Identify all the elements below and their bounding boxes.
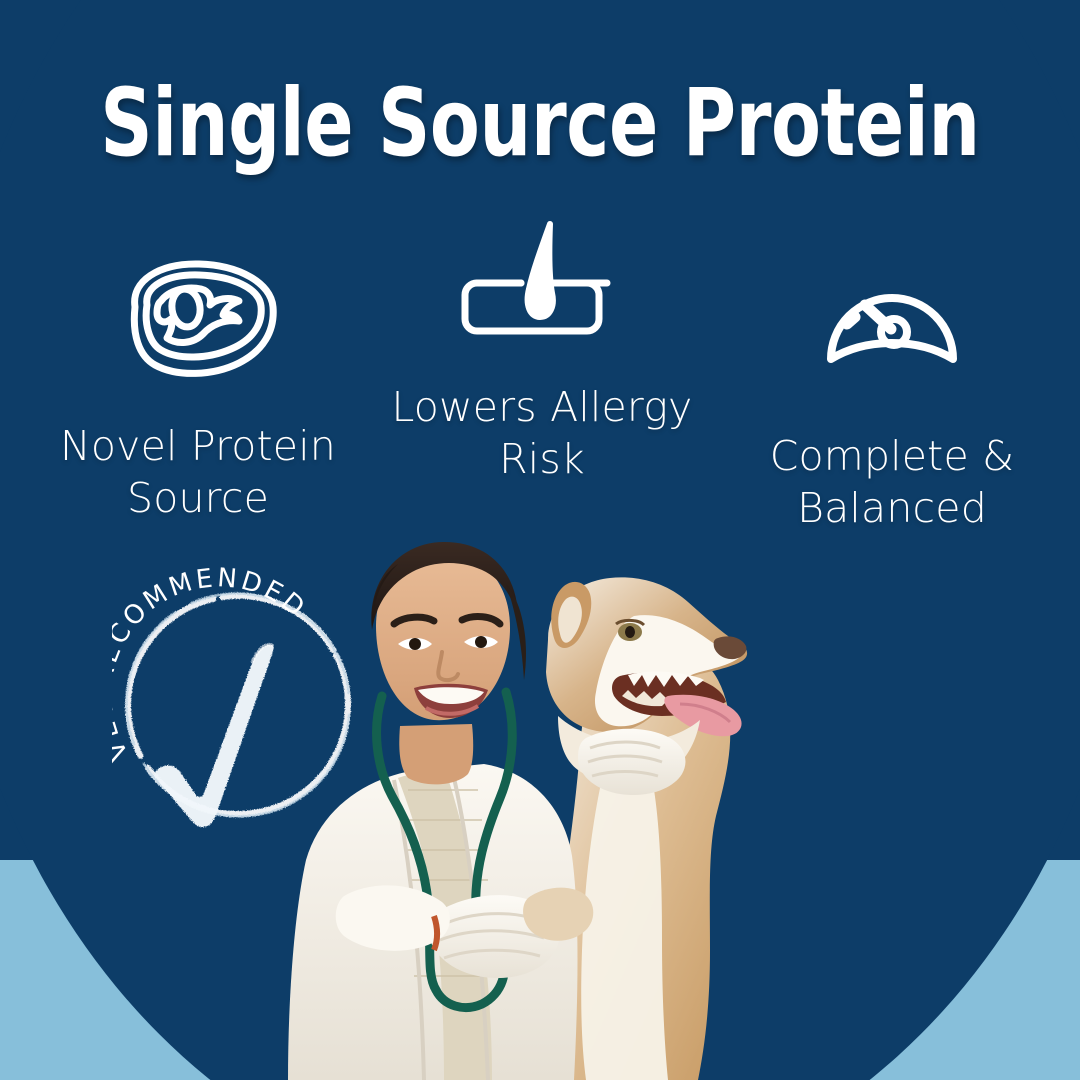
feature-row: Novel Protein Source Lowers Allergy Risk (0, 200, 1080, 530)
steak-icon (18, 255, 378, 390)
feature-novel-protein-source: Novel Protein Source (18, 255, 378, 525)
feature-label: Novel Protein Source (18, 420, 378, 525)
feature-lowers-allergy-risk: Lowers Allergy Risk (362, 205, 722, 486)
feature-complete-and-balanced: Complete & Balanced (712, 262, 1072, 535)
page-title: Single Source Protein (76, 76, 1005, 172)
dog-paw (523, 888, 593, 941)
veterinarian (288, 542, 578, 1080)
poster-canvas: Single Source Protein Novel Protein Sour… (0, 0, 1080, 1080)
feature-label: Lowers Allergy Risk (362, 381, 722, 486)
veterinarian-with-husky-photo (248, 520, 808, 1080)
gauge-icon (712, 262, 1072, 402)
hair-follicle-icon (362, 205, 722, 355)
